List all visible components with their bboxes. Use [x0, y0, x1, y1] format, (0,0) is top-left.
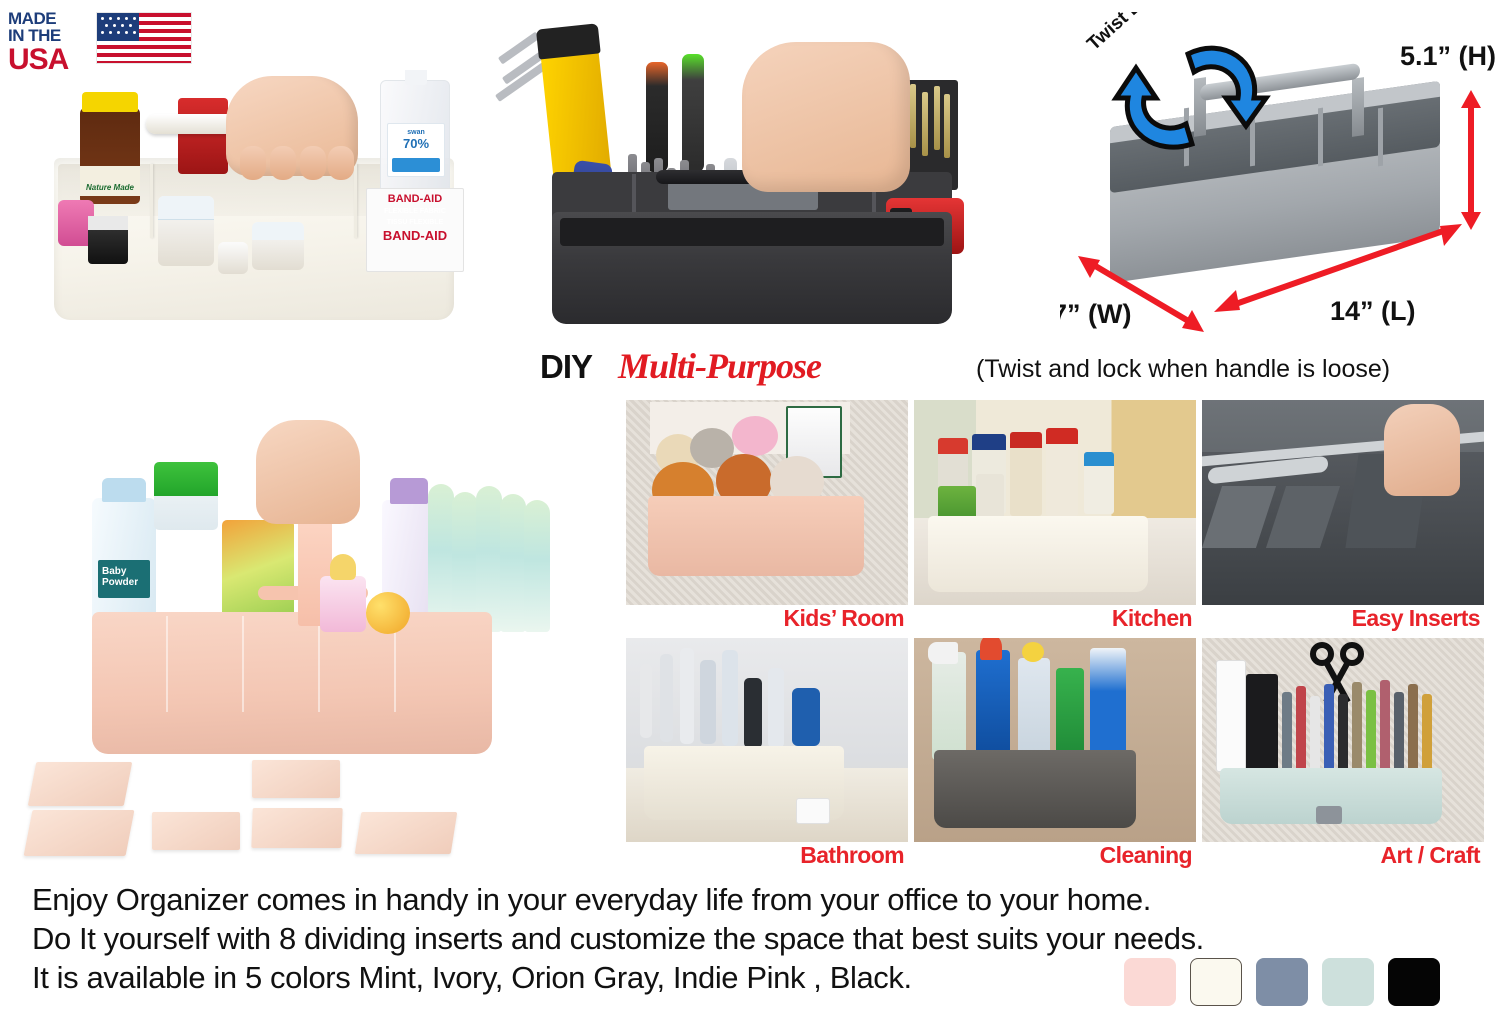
- swatch-ivory[interactable]: [1190, 958, 1242, 1006]
- use-case-label: Easy Inserts: [1202, 605, 1480, 633]
- divider-insert: [355, 812, 458, 854]
- description-line-3: It is available in 5 colors Mint, Ivory,…: [32, 958, 1132, 997]
- infographic-canvas: MADE IN THE USA: [0, 0, 1500, 1010]
- hand-placing-insert: [256, 420, 360, 524]
- divider-insert: [152, 812, 240, 850]
- multi-purpose-text: Multi-Purpose: [618, 346, 821, 386]
- divider-insert: [252, 760, 340, 798]
- use-case-kitchen[interactable]: Kitchen: [914, 400, 1196, 633]
- use-case-cleaning[interactable]: Cleaning: [914, 638, 1196, 871]
- use-case-art-craft[interactable]: Art / Craft: [1202, 638, 1484, 871]
- use-case-label: Kitchen: [914, 605, 1192, 633]
- dark-jar: [88, 216, 128, 264]
- kids-room-image: [626, 400, 908, 605]
- flag-canton: [97, 13, 139, 41]
- hand-holding-tool-caddy: [742, 42, 910, 192]
- band-aid-box: BAND-AID FLEXIBLE FABRICTISSU FLEXIBLE B…: [366, 188, 464, 272]
- baby-bottle: [320, 576, 366, 632]
- use-case-label: Kids’ Room: [626, 605, 904, 633]
- usa-flag-icon: [96, 12, 192, 64]
- hand-holding-caddy: [226, 76, 358, 176]
- diy-text: DIY: [540, 348, 592, 386]
- use-case-label: Art / Craft: [1202, 842, 1480, 870]
- bathroom-image: [626, 638, 908, 843]
- divider-insert: [28, 762, 133, 806]
- cleaning-image: [914, 638, 1196, 843]
- baby-caddy-photo: BabyPowder: [30, 420, 590, 760]
- diapers-stack: [428, 482, 556, 632]
- cream-jar-medium: [252, 222, 304, 270]
- height-arrow-icon: [1458, 90, 1484, 230]
- swatch-mint[interactable]: [1322, 958, 1374, 1006]
- green-lid-jar: [154, 462, 218, 530]
- dimension-diagram: Twist Lock 5.1” (H) 14” (L) 7” (W): [1060, 12, 1500, 342]
- use-case-label: Bathroom: [626, 842, 904, 870]
- use-case-label: Cleaning: [914, 842, 1192, 870]
- yellow-toy-ball: [366, 592, 410, 634]
- description-line-1: Enjoy Organizer comes in handy in your e…: [32, 880, 1132, 919]
- use-case-bathroom[interactable]: Bathroom: [626, 638, 908, 871]
- use-case-grid: Kids’ Room Kitchen: [626, 400, 1484, 870]
- twist-lock-note: (Twist and lock when handle is loose): [976, 354, 1390, 384]
- swatch-black[interactable]: [1388, 958, 1440, 1006]
- supplement-bottle: Nature Made: [80, 108, 140, 204]
- made-in-usa-badge: MADE IN THE USA: [8, 6, 198, 68]
- pink-caddy-body: [92, 612, 492, 754]
- ivory-caddy: [928, 516, 1148, 592]
- divider-insert: [251, 808, 342, 848]
- twist-lock-arrows-icon: [1084, 18, 1274, 178]
- cream-jar-large: [158, 196, 214, 266]
- medicine-caddy-photo: Nature Made swan70% BAND-AID FLEXIBLE FA…: [28, 70, 480, 332]
- use-case-kids-room[interactable]: Kids’ Room: [626, 400, 908, 633]
- made-in-usa-text: MADE IN THE USA: [8, 10, 100, 75]
- cream-jar-small: [218, 242, 248, 274]
- width-label: 7” (W): [1060, 300, 1131, 328]
- use-case-easy-inserts[interactable]: Easy Inserts: [1202, 400, 1484, 633]
- badge-line2: IN THE: [8, 27, 100, 44]
- baby-powder-bottle: BabyPowder: [92, 498, 156, 624]
- badge-line1: MADE: [8, 10, 100, 27]
- pink-caddy: [648, 496, 864, 576]
- kitchen-image: [914, 400, 1196, 605]
- black-caddy-body: [552, 212, 952, 324]
- tool-caddy-photo: [486, 22, 1006, 332]
- red-bottle: [178, 98, 228, 174]
- gray-caddy: [934, 750, 1136, 828]
- divider-inserts-group: [28, 758, 508, 866]
- swatch-orion-gray[interactable]: [1256, 958, 1308, 1006]
- description-paragraph: Enjoy Organizer comes in handy in your e…: [32, 880, 1132, 997]
- divider-insert: [24, 810, 135, 856]
- easy-inserts-image: [1202, 400, 1484, 605]
- alcohol-bottle: swan70%: [380, 80, 450, 196]
- swatch-indie-pink[interactable]: [1124, 958, 1176, 1006]
- height-label: 5.1” (H): [1400, 42, 1496, 70]
- description-line-2: Do It yourself with 8 dividing inserts a…: [32, 919, 1132, 958]
- color-swatch-row: [1124, 958, 1454, 1006]
- length-label: 14” (L): [1330, 297, 1416, 325]
- headline-row: DIY Multi-Purpose (Twist and lock when h…: [540, 348, 1490, 392]
- art-craft-image: [1202, 638, 1484, 843]
- handle-post-right: [1352, 77, 1364, 137]
